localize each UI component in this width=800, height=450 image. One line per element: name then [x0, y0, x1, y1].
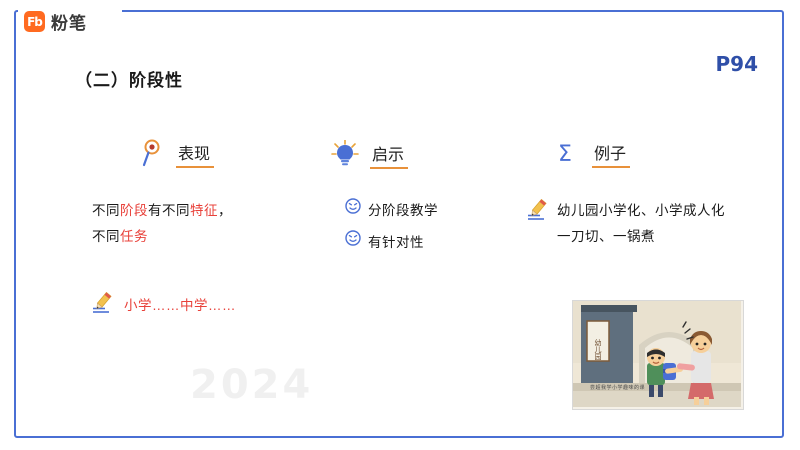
svg-text:幼儿园: 幼儿园 — [594, 338, 602, 361]
smiley-icon — [345, 198, 361, 214]
column-label-3: 例子 — [594, 140, 626, 167]
column1-body: 不同阶段有不同特征， 不同任务 — [92, 198, 232, 250]
watermark: 2024 — [190, 362, 313, 408]
column2-item-2-text: 有针对性 — [368, 230, 424, 256]
column1-note: 小学……中学…… — [92, 292, 236, 316]
kindergarten-cartoon-image: 幼儿园 — [572, 300, 744, 410]
smiley-icon — [345, 230, 361, 246]
highlight-trait: 特征 — [190, 203, 218, 218]
column2-item-1-text: 分阶段教学 — [368, 198, 438, 224]
column-heading-1: 表现 — [140, 138, 210, 168]
column3-body: 幼儿园小学化、小学成人化 一刀切、一锅煮 — [527, 198, 757, 250]
sigma-icon: Σ — [556, 138, 582, 168]
column3-line2: 一刀切、一锅煮 — [557, 224, 757, 250]
pencil-icon — [92, 292, 114, 316]
fenbi-logo-icon: Fb — [24, 11, 45, 32]
page-title: （二）阶段性 — [75, 66, 183, 91]
column-label-2: 启示 — [372, 141, 404, 168]
column3-line1: 幼儿园小学化、小学成人化 — [557, 198, 725, 224]
brand-name: 粉笔 — [51, 9, 87, 34]
column-heading-2: 启示 — [330, 140, 404, 168]
lightbulb-icon — [330, 140, 360, 168]
brand-logo: Fb 粉笔 — [24, 9, 87, 34]
column2-body: 分阶段教学 有针对性 — [345, 198, 438, 262]
column-label-1: 表现 — [178, 140, 210, 167]
page-number: P94 — [716, 52, 759, 76]
column1-line1: 不同阶段有不同特征， — [92, 198, 232, 224]
column2-item-2: 有针对性 — [345, 230, 438, 256]
svg-text:Σ: Σ — [558, 142, 572, 167]
magnifier-icon — [140, 138, 166, 168]
column-heading-3: Σ 例子 — [556, 138, 626, 168]
photo-caption: 尝超我学小学趣味的课 — [590, 384, 645, 391]
column2-item-1: 分阶段教学 — [345, 198, 438, 224]
slide: Fb 粉笔 P94 （二）阶段性 表现 — [0, 0, 800, 450]
column1-note-text: 小学……中学…… — [124, 294, 236, 314]
highlight-task: 任务 — [120, 229, 148, 244]
column1-line2: 不同任务 — [92, 224, 232, 250]
highlight-stage: 阶段 — [120, 203, 148, 218]
pencil-icon — [527, 199, 549, 223]
